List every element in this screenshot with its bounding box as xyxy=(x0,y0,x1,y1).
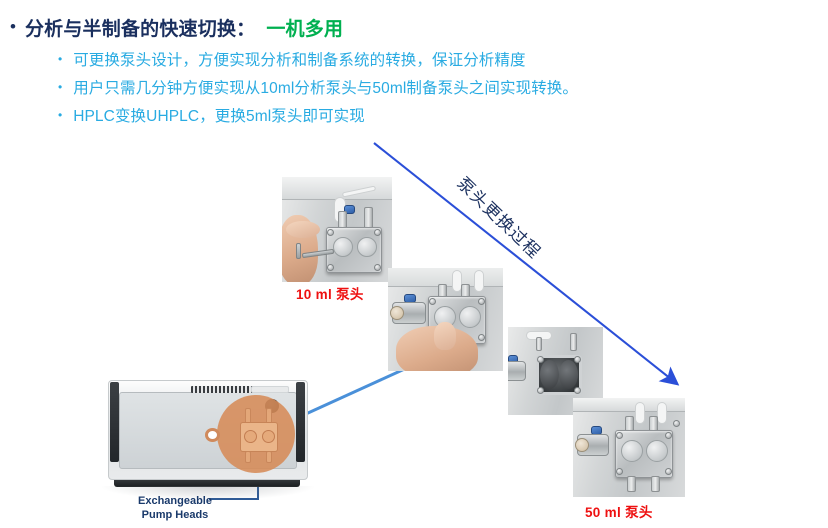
bullet-text: HPLC变换UHPLC，更换5ml泵头即可实现 xyxy=(73,104,365,126)
bullet-dot-icon: • xyxy=(58,109,62,121)
bullet-list: • 可更换泵头设计，方便实现分析和制备系统的转换，保证分析精度 • 用户只需几分… xyxy=(58,48,578,126)
list-item: • HPLC变换UHPLC，更换5ml泵头即可实现 xyxy=(58,104,578,126)
title-bullet-icon: • xyxy=(10,18,16,35)
list-item: • 用户只需几分钟方便实现从10ml分析泵头与50ml制备泵头之间实现转换。 xyxy=(58,76,578,98)
pump-head-chamber-right xyxy=(262,430,275,443)
instrument-badge xyxy=(251,386,289,393)
instrument-left-rail xyxy=(110,382,119,462)
bullet-text: 用户只需几分钟方便实现从10ml分析泵头与50ml制备泵头之间实现转换。 xyxy=(73,76,578,98)
page-title: • 分析与半制备的快速切换： 一机多用 xyxy=(10,14,343,41)
instrument-right-rail xyxy=(296,382,305,462)
photo-installed-50ml-pump-head xyxy=(573,398,685,497)
bullet-dot-icon: • xyxy=(58,81,62,93)
pump-head-chamber-left xyxy=(244,430,257,443)
caption-50ml-pump-head: 50 ml 泵头 xyxy=(585,501,653,521)
slide-canvas: • 分析与半制备的快速切换： 一机多用 • 可更换泵头设计，方便实现分析和制备系… xyxy=(0,0,828,528)
caption-10ml-pump-head: 10 ml 泵头 xyxy=(296,283,364,303)
instrument-vent-grille xyxy=(191,386,253,393)
pump-head-outlet-left xyxy=(245,451,251,463)
bullet-dot-icon: • xyxy=(58,53,62,65)
process-arrow-label: 泵头更换过程 xyxy=(453,170,548,263)
title-main-text: 分析与半制备的快速切换： xyxy=(25,14,255,41)
bullet-text: 可更换泵头设计，方便实现分析和制备系统的转换，保证分析精度 xyxy=(73,48,525,70)
photo-pump-head-removal-by-hand xyxy=(388,268,503,371)
pump-head-port xyxy=(205,428,220,442)
photo-pump-head-with-hex-key xyxy=(282,177,392,282)
callout-line-2: Pump Heads xyxy=(138,508,212,522)
pump-head-callout-label: Exchangeable Pump Heads xyxy=(138,494,212,522)
list-item: • 可更换泵头设计，方便实现分析和制备系统的转换，保证分析精度 xyxy=(58,48,578,70)
pump-head-outlet-right xyxy=(266,451,272,463)
title-accent-text: 一机多用 xyxy=(266,14,343,41)
callout-line-1: Exchangeable xyxy=(138,494,212,508)
